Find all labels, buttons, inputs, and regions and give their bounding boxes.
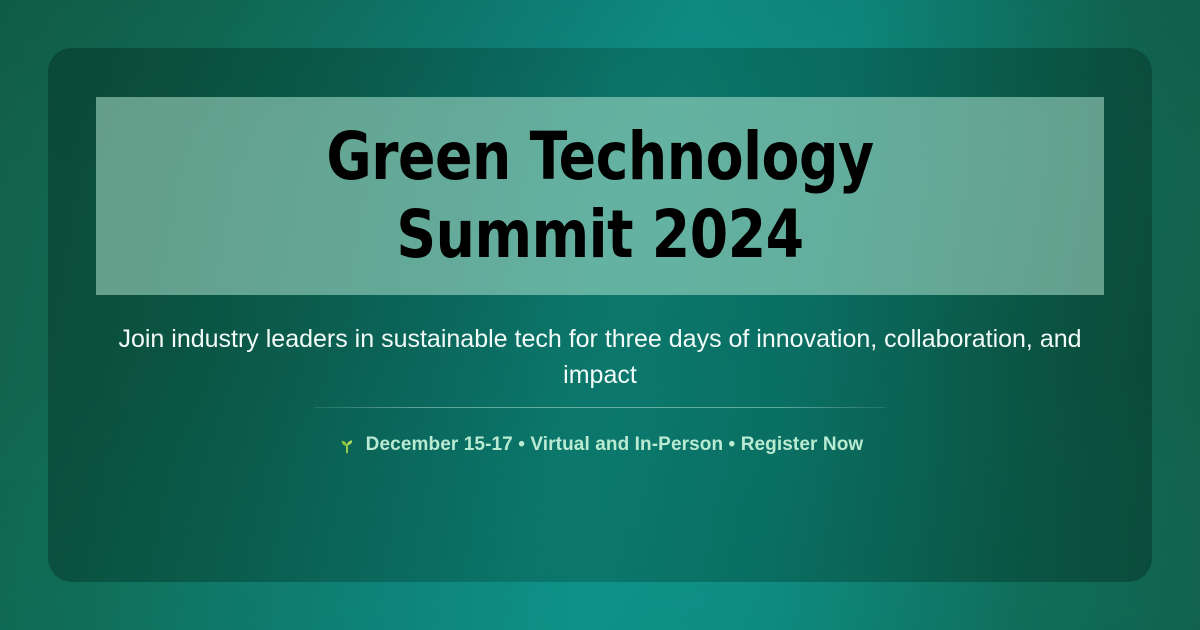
title-highlight-band: Green Technology Summit 2024 [96, 97, 1104, 295]
page-title: Green Technology Summit 2024 [131, 118, 1068, 274]
content-card: Green Technology Summit 2024 Join indust… [48, 48, 1152, 582]
event-details: December 15-17 • Virtual and In-Person •… [96, 434, 1104, 456]
sprout-icon [337, 435, 357, 455]
divider [314, 407, 886, 408]
subtitle-text: Join industry leaders in sustainable tec… [96, 322, 1104, 393]
event-banner: Green Technology Summit 2024 Join indust… [0, 0, 1200, 630]
event-details-text: December 15-17 • Virtual and In-Person •… [366, 434, 864, 456]
